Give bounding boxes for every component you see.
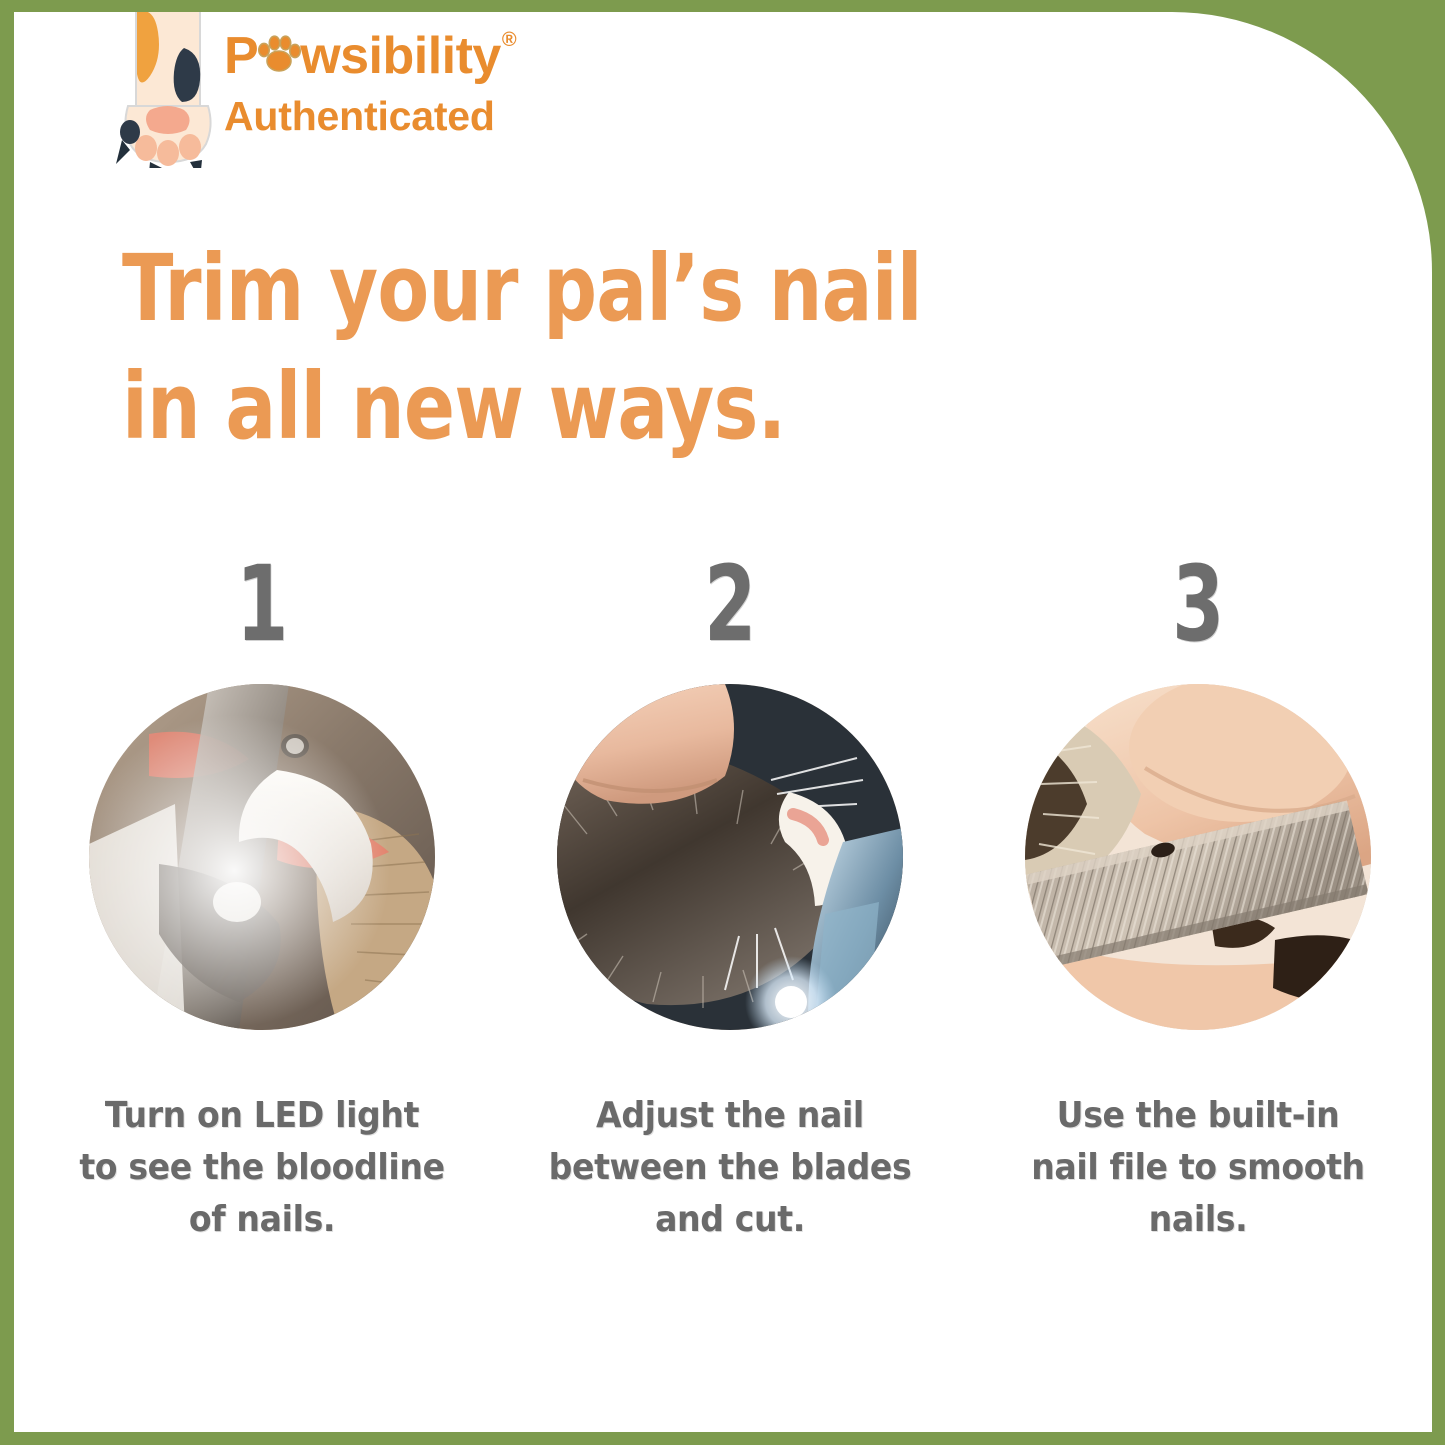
- caption-line: nail file to smooth: [1009, 1142, 1386, 1194]
- brand-wordmark: P wsibility® Authenticated: [224, 28, 624, 140]
- caption-line: Use the built-in: [1009, 1090, 1386, 1142]
- step-1-caption: Turn on LED light to see the bloodline o…: [73, 1090, 450, 1246]
- paw-print-icon: [256, 34, 302, 74]
- step-3-number: 3: [1172, 552, 1224, 656]
- registered-trademark-icon: ®: [502, 28, 517, 52]
- brand-logo: P wsibility® Authenticated: [106, 12, 626, 187]
- brand-tagline: Authenticated: [224, 92, 624, 140]
- cat-paw-icon: [106, 12, 224, 168]
- step-2-caption: Adjust the nail between the blades and c…: [541, 1090, 918, 1246]
- step-3-caption: Use the built-in nail file to smooth nai…: [1009, 1090, 1386, 1246]
- poster-inner-panel: P wsibility® Authenticated: [14, 12, 1432, 1432]
- caption-line: of nails.: [73, 1194, 450, 1246]
- step-1: 1: [52, 552, 472, 1246]
- caption-line: Turn on LED light: [73, 1090, 450, 1142]
- step-2: 2: [520, 552, 940, 1246]
- nail-clipper-led-photo: [89, 684, 435, 1030]
- brand-name-prefix: P: [224, 28, 258, 84]
- brand-name-suffix: wsibility: [300, 28, 501, 84]
- caption-line: to see the bloodline: [73, 1142, 450, 1194]
- nail-file-photo: [1025, 684, 1371, 1030]
- page-title: Trim your pal’s nail in all new ways.: [122, 230, 942, 466]
- steps-row: 1: [28, 552, 1432, 1246]
- caption-line: Adjust the nail: [541, 1090, 918, 1142]
- step-3: 3: [988, 552, 1408, 1246]
- caption-line: between the blades: [541, 1142, 918, 1194]
- step-2-number: 2: [704, 552, 756, 656]
- headline-line-2: in all new ways.: [122, 348, 942, 466]
- paw-in-blades-photo: [557, 684, 903, 1030]
- poster-root: P wsibility® Authenticated: [0, 0, 1445, 1445]
- caption-line: nails.: [1009, 1194, 1386, 1246]
- step-1-number: 1: [236, 552, 288, 656]
- caption-line: and cut.: [541, 1194, 918, 1246]
- headline-line-1: Trim your pal’s nail: [122, 230, 942, 348]
